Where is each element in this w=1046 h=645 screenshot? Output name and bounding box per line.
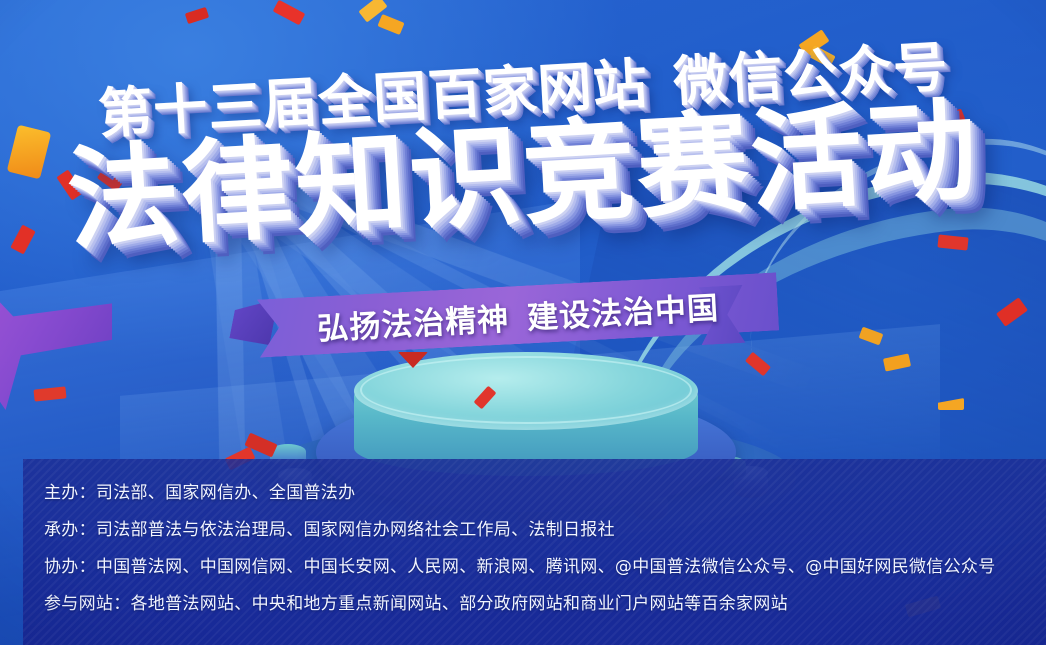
headline-main-title: 法律知识竞赛活动 (0, 89, 1046, 265)
headline-block: 第十三届全国百家网站微信公众号 法律知识竞赛活动 (0, 0, 1046, 300)
confetti-orange (859, 327, 884, 346)
headline-top-part1: 第十三届全国百家网站 (97, 52, 650, 146)
credits-line-undertaker: 承办：司法部普法与依法治理局、国家网信办网络社会工作局、法制日报社 (44, 512, 1034, 549)
credits-list: 主办：司法部、国家网信办、全国普法办 承办：司法部普法与依法治理局、国家网信办网… (44, 475, 1034, 623)
ribbon-slogan: 弘扬法治精神建设法治中国 (257, 272, 779, 357)
confetti-red (185, 7, 209, 24)
confetti-red (996, 297, 1028, 326)
confetti-red (273, 0, 306, 25)
ribbon-slogan-right: 建设法治中国 (526, 282, 720, 337)
confetti-orange (7, 125, 52, 180)
confetti-red (56, 169, 83, 200)
ribbon-slogan-left: 弘扬法治精神 (316, 293, 510, 348)
credits-panel: 主办：司法部、国家网信办、全国普法办 承办：司法部普法与依法治理局、国家网信办网… (23, 459, 1046, 645)
confetti-orange (883, 353, 911, 371)
credits-line-websites: 参与网站：各地普法网站、中央和地方重点新闻网站、部分政府网站和商业门户网站等百余… (44, 586, 1034, 623)
credits-line-coorganizer: 协办：中国普法网、中国网信网、中国长安网、人民网、新浪网、腾讯网、@中国普法微信… (44, 549, 1034, 586)
podium-disc-rim (360, 356, 692, 424)
confetti-red (941, 108, 966, 127)
confetti-red (97, 168, 123, 192)
confetti-orange (808, 45, 835, 68)
headline-top-line: 第十三届全国百家网站微信公众号 (0, 17, 1046, 154)
confetti-orange (938, 398, 964, 410)
confetti-orange (377, 14, 404, 35)
credits-line-organizer: 主办：司法部、国家网信办、全国普法办 (44, 475, 1034, 512)
confetti-red (33, 386, 66, 401)
poster-banner: 第十三届全国百家网站微信公众号 法律知识竞赛活动 弘扬法治精神建设法治中国 主办… (0, 0, 1046, 645)
confetti-red (937, 234, 968, 250)
confetti-red (10, 225, 35, 255)
